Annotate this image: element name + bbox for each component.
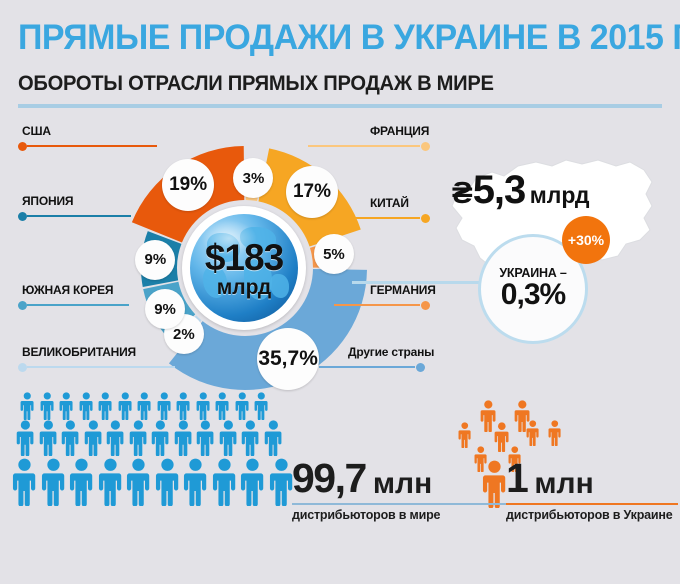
person-icon	[129, 420, 148, 456]
person-icon	[39, 420, 58, 456]
person-icon	[69, 458, 94, 506]
world-stat-underline	[292, 503, 528, 505]
slice-percent-bubble-2: 17%	[286, 166, 338, 218]
person-icon	[235, 392, 250, 420]
legend-line-other	[319, 366, 415, 368]
legend-dot-germany	[421, 301, 430, 310]
ukraine-stat-underline	[506, 503, 678, 505]
person-icon	[458, 422, 472, 448]
person-icon	[254, 392, 269, 420]
legend-dot-uk	[18, 363, 27, 372]
person-icon	[41, 458, 66, 506]
globe-total-value: $183	[182, 240, 306, 275]
legend-line-china	[342, 217, 420, 219]
ukraine-distributors-caption: дистрибьюторов в Украине	[506, 508, 678, 522]
person-icon	[215, 392, 230, 420]
globe-center: $183 млрд	[182, 206, 306, 330]
legend-line-japan	[27, 215, 131, 217]
person-icon	[155, 458, 180, 506]
legend-dot-china	[421, 214, 430, 223]
person-icon	[84, 420, 103, 456]
legend-line-south-korea	[27, 304, 129, 306]
person-icon	[241, 420, 260, 456]
ukraine-distributors-unit: млн	[534, 469, 593, 499]
person-icon	[269, 458, 294, 506]
person-icon	[98, 392, 113, 420]
ukraine-distributors-value: 1	[506, 458, 527, 499]
hryvnia-icon: ₴	[452, 175, 473, 210]
person-icon	[59, 392, 74, 420]
ukraine-amount-unit: млрд	[530, 182, 590, 208]
person-icon	[174, 420, 193, 456]
page-title: ПРЯМЫЕ ПРОДАЖИ В УКРАИНЕ В 2015 ГОДУ	[18, 18, 680, 58]
ukraine-share-value: 0,3%	[501, 278, 565, 312]
person-icon	[212, 458, 237, 506]
page-subtitle: ОБОРОТЫ ОТРАСЛИ ПРЯМЫХ ПРОДАЖ В МИРЕ	[18, 72, 494, 96]
person-icon	[20, 392, 35, 420]
legend-line-uk	[27, 366, 175, 368]
person-icon	[16, 420, 35, 456]
person-icon	[183, 458, 208, 506]
person-icon	[151, 420, 170, 456]
person-icon	[40, 392, 55, 420]
person-icon	[118, 392, 133, 420]
world-distributors-stat: 99,7 млн дистрибьюторов в мире	[292, 458, 528, 522]
growth-badge: +30%	[562, 216, 610, 264]
legend-label-other: Другие страны	[348, 345, 434, 359]
slice-percent-bubble-4: 35,7%	[257, 328, 319, 390]
person-icon	[157, 392, 172, 420]
legend-line-germany	[334, 304, 420, 306]
person-icon	[219, 420, 238, 456]
person-icon	[548, 420, 562, 446]
infographic-root: ПРЯМЫЕ ПРОДАЖИ В УКРАИНЕ В 2015 ГОДУ ОБО…	[0, 0, 680, 584]
world-distributors-caption: дистрибьюторов в мире	[292, 508, 528, 522]
person-icon	[98, 458, 123, 506]
person-icon	[79, 392, 94, 420]
globe-total-label: $183 млрд	[182, 240, 306, 300]
ukraine-amount-value: 5,3	[473, 168, 526, 212]
person-icon	[12, 458, 37, 506]
slice-percent-bubble-3: 5%	[314, 234, 354, 274]
world-distributors-unit: млн	[373, 469, 432, 499]
world-market-donut-chart: $183 млрд 3%17%5%35,7%2%9%9%19%	[100, 128, 390, 398]
ukraine-distributors-stat: 1 млн дистрибьюторов в Украине	[506, 458, 678, 522]
person-icon	[196, 392, 211, 420]
person-icon	[137, 392, 152, 420]
person-icon	[126, 458, 151, 506]
world-distributors-value: 99,7	[292, 458, 366, 499]
person-icon	[526, 420, 540, 446]
world-distributors-people-icons	[4, 392, 294, 512]
legend-label-south-korea: ЮЖНАЯ КОРЕЯ	[22, 283, 113, 297]
ukraine-connector-line	[352, 281, 484, 284]
legend-line-usa	[27, 145, 157, 147]
legend-label-germany: ГЕРМАНИЯ	[370, 283, 436, 297]
legend-label-usa: США	[22, 124, 51, 138]
legend-label-uk: ВЕЛИКОБРИТАНИЯ	[22, 345, 136, 359]
legend-dot-usa	[18, 142, 27, 151]
legend-label-japan: ЯПОНИЯ	[22, 194, 73, 208]
slice-percent-bubble-8: 19%	[162, 159, 214, 211]
globe-total-unit: млрд	[182, 276, 306, 300]
person-icon	[240, 458, 265, 506]
ukraine-turnover: ₴5,3 млрд	[452, 168, 662, 213]
person-icon	[196, 420, 215, 456]
person-icon	[106, 420, 125, 456]
person-icon	[264, 420, 283, 456]
legend-label-china: КИТАЙ	[370, 196, 409, 210]
legend-dot-south-korea	[18, 301, 27, 310]
legend-label-france: ФРАНЦИЯ	[370, 124, 429, 138]
legend-line-france	[308, 145, 420, 147]
person-icon	[176, 392, 191, 420]
person-icon	[61, 420, 80, 456]
legend-dot-japan	[18, 212, 27, 221]
legend-dot-other	[416, 363, 425, 372]
header-divider	[18, 104, 662, 108]
legend-dot-france	[421, 142, 430, 151]
